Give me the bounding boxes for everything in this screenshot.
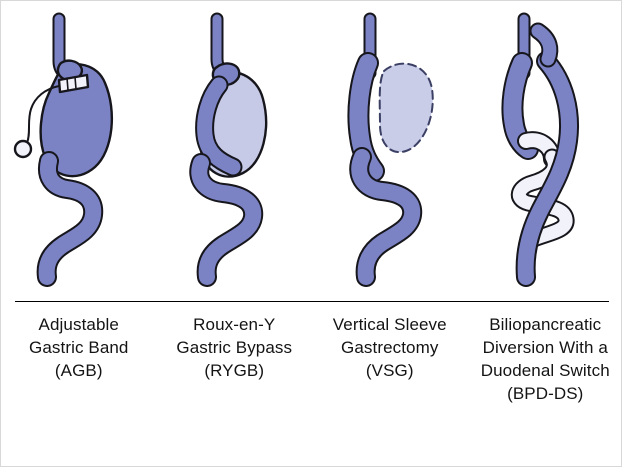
caption-line: (RYGB) (157, 359, 313, 382)
caption-line: Vertical Sleeve (312, 313, 468, 336)
caption-line: (BPD-DS) (468, 382, 622, 405)
caption-line: Gastrectomy (312, 336, 468, 359)
caption-line: Gastric Band (1, 336, 157, 359)
caption-line: Adjustable (1, 313, 157, 336)
panel-roux-en-y-gastric-bypass (157, 1, 313, 311)
caption-line: Roux-en-Y (157, 313, 313, 336)
panel-adjustable-gastric-band (1, 1, 157, 311)
caption-line: Biliopancreatic (468, 313, 622, 336)
panel-biliopancreatic-diversion-duodenal-switch (468, 1, 622, 311)
caption-line: (AGB) (1, 359, 157, 382)
bariatric-surgery-types-figure: Adjustable Gastric Band (AGB) Roux-en-Y … (0, 0, 622, 467)
caption-vertical-sleeve-gastrectomy: Vertical Sleeve Gastrectomy (VSG) (312, 313, 468, 405)
caption-biliopancreatic-diversion-duodenal-switch: Biliopancreatic Diversion With a Duodena… (468, 313, 622, 405)
horizontal-divider (15, 301, 609, 302)
diagram-panels (1, 1, 622, 311)
caption-line: Duodenal Switch (468, 359, 622, 382)
panel-vertical-sleeve-gastrectomy (312, 1, 468, 311)
caption-adjustable-gastric-band: Adjustable Gastric Band (AGB) (1, 313, 157, 405)
caption-line: Gastric Bypass (157, 336, 313, 359)
caption-roux-en-y-gastric-bypass: Roux-en-Y Gastric Bypass (RYGB) (157, 313, 313, 405)
caption-line: (VSG) (312, 359, 468, 382)
caption-line: Diversion With a (468, 336, 622, 359)
panel-captions: Adjustable Gastric Band (AGB) Roux-en-Y … (1, 313, 622, 405)
